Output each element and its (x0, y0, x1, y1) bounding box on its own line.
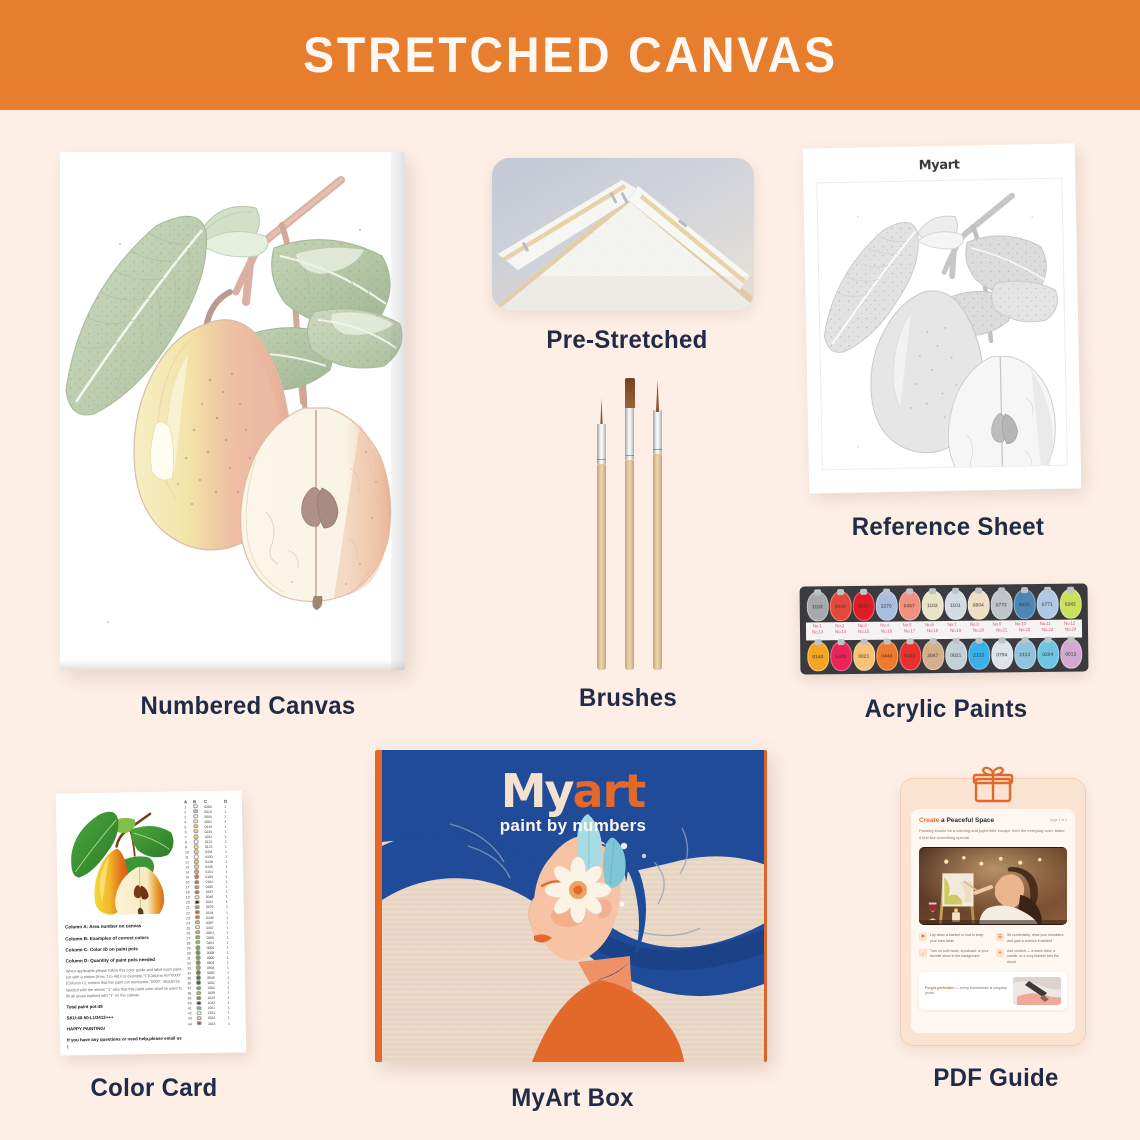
paint-pot: 0140 (807, 641, 829, 671)
row-area-number: 26 (186, 931, 195, 935)
paint-pot: 0771 (1036, 589, 1058, 619)
row-quantity: 1 (226, 905, 234, 909)
paint-pot: 0021 (853, 641, 875, 671)
row-quantity: 1 (224, 804, 232, 808)
row-color-id: 0183 (205, 875, 225, 879)
row-color-id: 0066 (207, 971, 227, 975)
row-area-number: 29 (187, 946, 196, 950)
row-area-number: 23 (186, 916, 195, 920)
row-color-id: 0122 (205, 840, 225, 844)
row-color-id: 0904 (207, 966, 227, 970)
row-area-number: 18 (186, 891, 195, 895)
color-card-total: Total paint pot:49 (66, 1002, 183, 1011)
chair-icon: ☰ (996, 933, 1004, 941)
row-area-number: 11 (185, 855, 194, 859)
row-color-id: 0233 (205, 829, 225, 833)
row-area-number: 12 (185, 860, 194, 864)
color-card-legend-c: Column C: Color ID on paint pots (65, 944, 182, 953)
pdf-tips-grid: ⚑Lay down a blanket or mat to keep your … (919, 933, 1067, 965)
row-area-number: 30 (187, 951, 196, 955)
row-area-number: 1 (184, 805, 193, 809)
color-card-happy: HAPPY PAINTING! (67, 1024, 184, 1033)
caption-brushes: Brushes (476, 684, 779, 713)
paint-pot: 0457 (898, 590, 920, 620)
color-card-legend-a: Column A: Area number on canvas (65, 922, 182, 931)
pdf-heading-rest: a Peaceful Space (939, 817, 994, 824)
row-area-number: 3 (184, 815, 193, 819)
color-card-table: A B C D 10000120019130004140001450419160… (184, 799, 239, 1046)
pdf-tip: ♪Turn on soft music, a podcast, or your … (919, 949, 990, 965)
row-quantity: 1 (225, 860, 233, 864)
row-quantity: 1 (228, 1006, 236, 1010)
product-acrylic-paints[interactable]: 1102 0034 0010 2270 0457 1102 1101 0804 … (800, 585, 1092, 733)
page-header: STRETCHED CANVAS (0, 0, 1140, 110)
row-color-id: 1931 (208, 1011, 228, 1015)
pdf-tip-text: Turn on soft music, a podcast, or your f… (930, 949, 990, 965)
row-color-id: 0454 (207, 940, 227, 944)
gift-icon (972, 765, 1014, 803)
paint-pot: 1020 (830, 641, 852, 671)
pdf-tip: ☰Sit comfortably, relax your shoulders, … (996, 933, 1067, 944)
paint-tray: 1102 0034 0010 2270 0457 1102 1101 0804 … (800, 583, 1089, 674)
row-area-number: 24 (186, 921, 195, 925)
color-card-legend-d: Column D: Quantity of paint pots needed (66, 955, 183, 964)
row-quantity: 1 (225, 855, 233, 859)
music-icon: ♪ (919, 949, 927, 957)
paint-pot: 0012 (1060, 639, 1082, 669)
row-color-id: 0197 (206, 890, 226, 894)
row-quantity: 1 (227, 945, 235, 949)
row-color-id: 0004 (204, 814, 224, 818)
row-color-id: 0123 (205, 845, 225, 849)
row-area-number: 44 (188, 1022, 197, 1026)
myart-logo-reference: Myart (816, 156, 1062, 176)
paint-pot: 2047 (922, 640, 944, 670)
reference-sheet-art-area (816, 178, 1067, 471)
product-pre-stretched[interactable]: Pre-Stretched (492, 158, 762, 368)
reference-sheet-paper: Myart (803, 143, 1082, 493)
row-color-id: 0430 (205, 855, 225, 859)
row-area-number: 9 (185, 845, 194, 849)
paint-pot: 0794 (991, 639, 1013, 669)
canvas-bottom-shade (60, 660, 405, 670)
pdf-tip-text: Lay down a blanket or mat to keep your a… (930, 933, 990, 944)
paint-pot: 0440 (876, 640, 898, 670)
pdf-page-label: page 1 of 1 (1050, 818, 1067, 822)
row-area-number: 10 (185, 850, 194, 854)
paint-pot: 1101 (944, 590, 966, 620)
paint-pot: 0010 (852, 591, 874, 621)
row-area-number: 17 (186, 885, 195, 889)
paint-pot: 0772 (990, 589, 1012, 619)
row-area-number: 42 (188, 1012, 197, 1016)
row-color-id: 0232 (205, 834, 225, 838)
row-quantity: 1 (228, 1011, 236, 1015)
row-area-number: 34 (187, 971, 196, 975)
row-color-id: 0184 (205, 880, 225, 884)
row-area-number: 31 (187, 956, 196, 960)
caption-numbered-canvas: Numbered Canvas (66, 692, 431, 721)
row-color-id: 0407 (206, 925, 226, 929)
product-brushes[interactable]: Brushes (470, 380, 786, 732)
row-area-number: 39 (187, 997, 196, 1001)
row-quantity: 1 (225, 880, 233, 884)
row-quantity: 1 (227, 986, 235, 990)
row-color-id: 0438 (205, 860, 225, 864)
pdf-tip-text: Sit comfortably, relax your shoulders, a… (1007, 933, 1067, 944)
pdf-footer-accent: Forget perfection (925, 986, 955, 990)
row-color-id: 1042 (208, 1001, 228, 1005)
pdf-guide-page: page 1 of 1 Create a Peaceful Space Pain… (911, 809, 1075, 1033)
row-color-id: 0012 (206, 900, 226, 904)
row-area-number: 8 (185, 840, 194, 844)
row-area-number: 7 (185, 835, 194, 839)
caption-pre-stretched: Pre-Stretched (497, 326, 756, 355)
canvas-frame (60, 152, 405, 670)
pdf-heading: Create a Peaceful Space (919, 817, 1067, 824)
paint-pot: 0021 (945, 640, 967, 670)
paint-pot: 0070 (1013, 589, 1035, 619)
row-area-number: 16 (185, 880, 194, 884)
row-color-id: 0001 (204, 819, 224, 823)
row-color-id: 1051 (208, 1006, 228, 1010)
row-quantity: 1 (226, 900, 234, 904)
row-quantity: 1 (227, 996, 235, 1000)
row-quantity: 1 (227, 971, 235, 975)
row-area-number: 36 (187, 981, 196, 985)
row-quantity: 1 (225, 849, 233, 853)
row-color-id: 2043 (208, 1021, 228, 1025)
row-area-number: 41 (188, 1007, 197, 1011)
row-quantity: 1 (226, 910, 234, 914)
col-a: A (184, 799, 193, 804)
paint-pot: 0242 (1059, 589, 1081, 619)
row-area-number: 2 (184, 810, 193, 814)
row-color-id: 0000 (204, 804, 224, 808)
row-area-number: 33 (187, 966, 196, 970)
color-card-row: 4420431 (188, 1020, 239, 1026)
row-quantity: 1 (227, 955, 235, 959)
row-color-id: 1043 (207, 996, 227, 1000)
paint-pot: 0182 (899, 640, 921, 670)
row-color-id: 0195 (206, 885, 226, 889)
row-quantity: 1 (228, 1016, 236, 1020)
row-quantity: 1 (224, 814, 232, 818)
row-quantity: 1 (225, 865, 233, 869)
color-card-artwork (63, 799, 182, 919)
row-area-number: 25 (186, 926, 195, 930)
color-card-table-body: 1000012001913000414000145041916023317023… (184, 804, 239, 1027)
paint-pot: 2270 (875, 590, 897, 620)
row-area-number: 27 (186, 936, 195, 940)
color-card-left: Column A: Area number on canvas Column B… (63, 799, 188, 1047)
row-color-id: 0439 (205, 865, 225, 869)
row-area-number: 4 (184, 820, 193, 824)
row-quantity: 1 (225, 844, 233, 848)
row-quantity: 1 (225, 839, 233, 843)
pdf-footer-text: Forget perfection — every brushstroke is… (925, 986, 1008, 998)
paint-pot: 2113 (1014, 639, 1036, 669)
reference-artwork-grayscale (817, 179, 1066, 470)
box-subtitle: paint by numbers (382, 816, 764, 836)
row-color-id: 0064 (206, 930, 226, 934)
row-color-id: 0904 (207, 961, 227, 965)
row-color-id: 0419 (204, 824, 224, 828)
row-color-id: 0060 (206, 935, 226, 939)
row-swatch (197, 1021, 208, 1027)
row-quantity: 1 (226, 920, 234, 924)
pdf-guide-outer: page 1 of 1 Create a Peaceful Space Pain… (900, 778, 1086, 1046)
row-quantity: 1 (228, 1021, 236, 1025)
pre-stretched-photo (492, 158, 754, 310)
canvas-corner-illustration (492, 158, 754, 310)
row-color-id: 1004 (207, 986, 227, 990)
product-numbered-canvas[interactable]: Numbered Canvas (58, 152, 438, 732)
row-color-id: 0046 (206, 895, 226, 899)
row-quantity: 1 (227, 950, 235, 954)
pdf-photo-illustration (919, 847, 1067, 925)
row-area-number: 14 (185, 870, 194, 874)
pdf-photo (919, 847, 1067, 925)
row-quantity: 1 (227, 976, 235, 980)
pdf-tip: ⚑Lay down a blanket or mat to keep your … (919, 933, 990, 944)
row-area-number: 21 (186, 906, 195, 910)
row-color-id: 0019 (204, 809, 224, 813)
phone-off-icon: ⚑ (919, 933, 927, 941)
pdf-heading-accent: Create (919, 817, 939, 824)
canvas-artwork-pear (60, 152, 405, 670)
row-quantity: 1 (226, 885, 234, 889)
caption-color-card: Color Card (62, 1074, 246, 1103)
row-area-number: 35 (187, 976, 196, 980)
row-quantity: 1 (227, 940, 235, 944)
row-quantity: 1 (228, 1001, 236, 1005)
row-quantity: 4 (224, 819, 232, 823)
pdf-tip: ✧Add comfort — a warm drink, a candle, o… (996, 949, 1067, 965)
row-area-number: 13 (185, 865, 194, 869)
paint-pot: 1102 (806, 591, 828, 621)
row-area-number: 37 (187, 986, 196, 990)
row-color-id: 0946 (207, 976, 227, 980)
pdf-tip-text: Add comfort — a warm drink, a candle, or… (1007, 949, 1067, 965)
row-area-number: 43 (188, 1017, 197, 1021)
row-area-number: 28 (187, 941, 196, 945)
row-quantity: 1 (226, 930, 234, 934)
myart-logo-box: Myart paint by numbers (382, 764, 764, 836)
paint-pot: 0804 (967, 590, 989, 620)
paint-pot: 1102 (921, 590, 943, 620)
color-card-contact: If you have any questions or need help,p… (67, 1035, 184, 1051)
product-pdf-guide[interactable]: page 1 of 1 Create a Peaceful Space Pain… (900, 778, 1092, 1123)
row-area-number: 15 (185, 875, 194, 879)
row-quantity: 1 (226, 890, 234, 894)
row-color-id: 1002 (207, 981, 227, 985)
row-color-id: 0058 (207, 951, 227, 955)
myart-box-front: Myart paint by numbers (375, 750, 767, 1062)
paint-pot: 2122 (968, 640, 990, 670)
paint-row-bottom: 0140 1020 0021 0440 0182 2047 0021 2122 … (804, 639, 1084, 672)
row-quantity: 1 (227, 981, 235, 985)
row-quantity: 1 (227, 991, 235, 995)
row-color-id: 0016 (208, 1016, 228, 1020)
row-quantity: 1 (225, 870, 233, 874)
brush-stroke-illustration (1013, 977, 1061, 1005)
pdf-footer-image (1013, 977, 1061, 1005)
paint-row-top: 1102 0034 0010 2270 0457 1102 1101 0804 … (804, 589, 1084, 622)
row-color-id: 0900 (207, 956, 227, 960)
row-quantity: 1 (225, 829, 233, 833)
row-quantity: 1 (224, 824, 232, 828)
row-color-id: 0079 (206, 905, 226, 909)
row-quantity: 1 (226, 895, 234, 899)
row-color-id: 0434 (205, 850, 225, 854)
row-area-number: 20 (186, 901, 195, 905)
logo-art: art (573, 764, 646, 818)
canvas-edge-highlight (391, 152, 405, 670)
row-area-number: 40 (188, 1002, 197, 1006)
row-area-number: 22 (186, 911, 195, 915)
paint-tray-label-strip: No.1No.2No.3No.4No.5No.6 No.7No.8No.9No.… (806, 620, 1082, 641)
row-color-id: 0449 (206, 915, 226, 919)
row-quantity: 1 (226, 935, 234, 939)
row-area-number: 19 (186, 896, 195, 900)
row-area-number: 38 (187, 991, 196, 995)
row-color-id: 0050 (207, 946, 227, 950)
color-card-pear-photo (63, 799, 182, 919)
row-color-id: 1009 (207, 991, 227, 995)
row-color-id: 0097 (206, 920, 226, 924)
row-color-id: 0154 (205, 870, 225, 874)
color-card-sku: SKU:40-50-LU3412+++ (67, 1013, 184, 1022)
candle-icon: ✧ (996, 949, 1004, 957)
logo-my: My (501, 764, 573, 818)
row-area-number: 32 (187, 961, 196, 965)
color-card-paper: Column A: Area number on canvas Column B… (56, 790, 247, 1055)
caption-pdf-guide: PDF Guide (904, 1064, 1088, 1093)
product-color-card[interactable]: Column A: Area number on canvas Column B… (58, 792, 250, 1122)
row-color-id: 0118 (206, 910, 226, 914)
product-reference-sheet[interactable]: Myart (806, 146, 1090, 546)
row-quantity: 1 (227, 961, 235, 965)
row-quantity: 1 (225, 834, 233, 838)
caption-reference-sheet: Reference Sheet (812, 513, 1085, 542)
row-quantity: 1 (225, 875, 233, 879)
product-myart-box[interactable]: Myart paint by numbers MyArt Box (375, 750, 770, 1110)
brush-group (470, 380, 786, 670)
col-d: D (224, 799, 232, 804)
row-quantity: 1 (224, 809, 232, 813)
paint-pot: 0034 (829, 591, 851, 621)
caption-acrylic-paints: Acrylic Paints (806, 695, 1086, 724)
row-area-number: 5 (184, 825, 193, 829)
page-title: STRETCHED CANVAS (303, 26, 838, 84)
row-quantity: 1 (226, 915, 234, 919)
caption-myart-box: MyArt Box (383, 1084, 762, 1113)
paint-pot: 0204 (1037, 639, 1059, 669)
row-quantity: 1 (226, 925, 234, 929)
row-area-number: 6 (185, 830, 194, 834)
col-c: C (204, 799, 224, 804)
pdf-subtitle: Painting should be a calming and joyful … (919, 828, 1067, 841)
color-card-legend-b: Column B: Examples of correct colors (65, 933, 182, 942)
pdf-footer-note: Forget perfection — every brushstroke is… (919, 972, 1067, 1010)
row-quantity: 1 (227, 966, 235, 970)
color-card-body-text: When applicable,please follow this color… (66, 966, 184, 999)
